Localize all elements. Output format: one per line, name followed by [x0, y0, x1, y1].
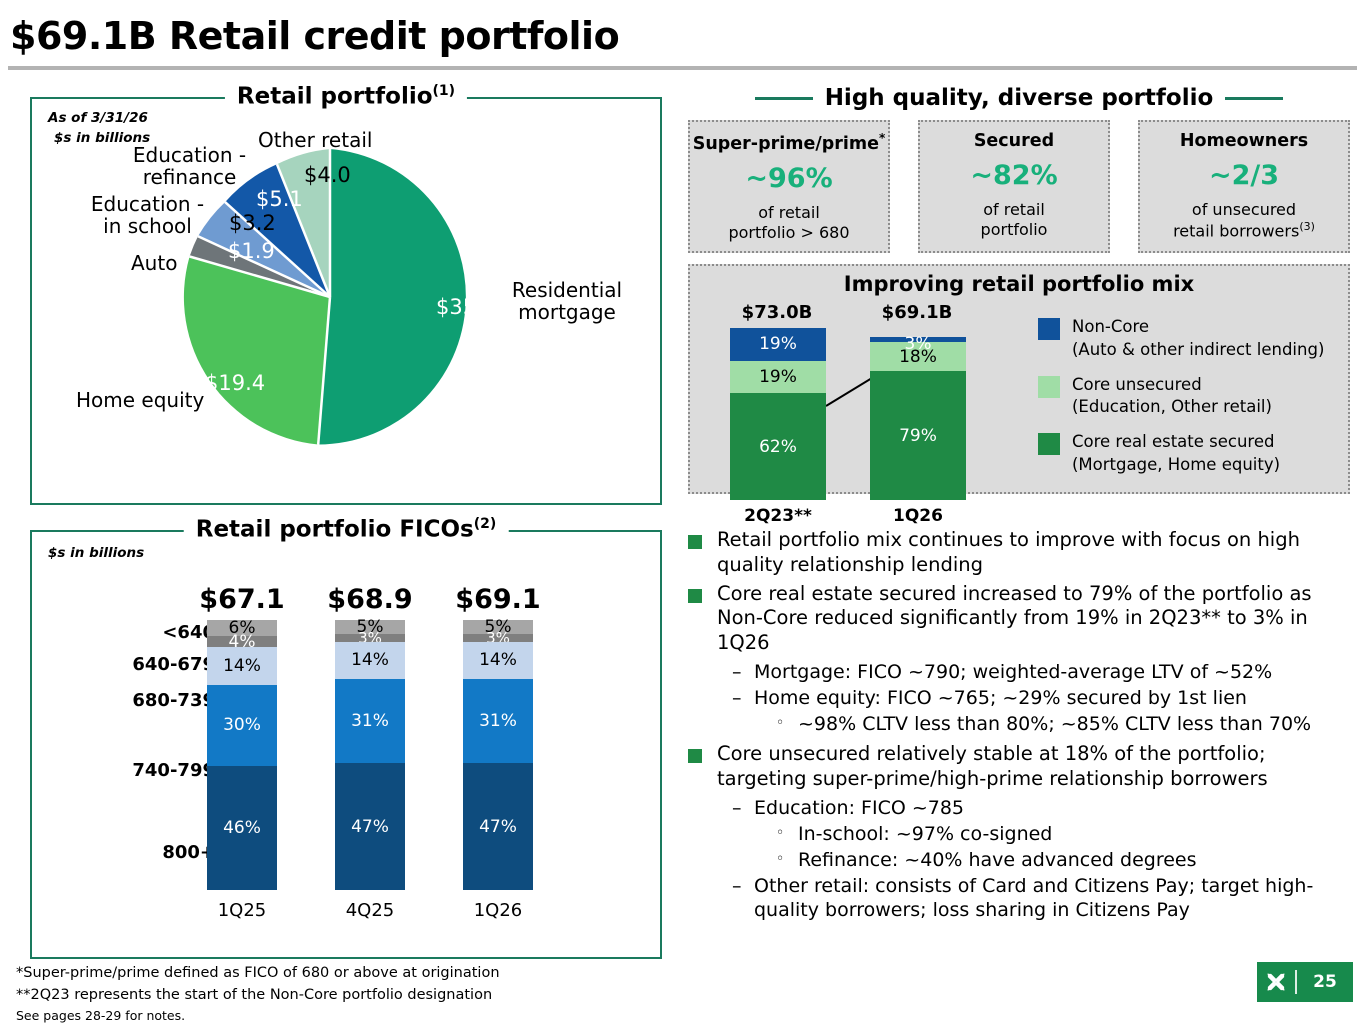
stat-value-super-prime: ~96%: [745, 163, 832, 194]
fico-seg-800plus-1q25: 46%: [207, 766, 277, 890]
retail-portfolio-panel-title: Retail portfolio(1): [225, 83, 467, 110]
mix-seg-core-unsecured-2q23: 19%: [730, 361, 826, 394]
fico-seg-800plus-1q26: 47%: [463, 763, 533, 890]
mix-legend-name-core-unsecured: Core unsecured: [1072, 375, 1202, 394]
mix-xlabel-2q23: 2Q23**: [722, 506, 834, 526]
mix-legend-text-core-unsecured: Core unsecured (Education, Other retail): [1072, 374, 1272, 420]
bullet-text: Other retail: consists of Card and Citiz…: [754, 874, 1350, 922]
citizens-logo-badge: 25: [1257, 962, 1353, 1002]
fico-row-label-680-739: 680-739: [132, 690, 215, 711]
bullet-level3: ◦ Refinance: ~40% have advanced degrees: [776, 848, 1350, 872]
mix-seg-core-re-secured-2q23: 62%: [730, 393, 826, 500]
bullet-square-icon: [688, 589, 702, 603]
stat-sub-line1: of retail: [758, 203, 820, 222]
bullet-text: Home equity: FICO ~765; ~29% secured by …: [754, 686, 1247, 710]
heading-rule-left: [755, 97, 813, 100]
pie-value-residential-mortgage: $35.4: [436, 295, 496, 319]
bullet-level2: – Mortgage: FICO ~790; weighted-average …: [732, 660, 1350, 684]
stat-value-homeowners: ~2/3: [1209, 160, 1279, 191]
pie-label-residential-mortgage: Residentialmortgage: [502, 279, 632, 324]
mix-legend-detail-core-unsecured: (Education, Other retail): [1072, 397, 1272, 416]
ficos-units-note: $s in billions: [48, 544, 144, 564]
stat-sub-homeowners-line2: retail borrowers: [1173, 221, 1299, 240]
stat-label-footnote-marker: *: [879, 131, 885, 145]
mix-legend-swatch-non-core: [1038, 318, 1060, 340]
mix-bar-1q26: 3% 18% 79%: [870, 337, 966, 500]
mix-legend-swatch-core-re-secured: [1038, 433, 1060, 455]
stat-sub-secured-line2: portfolio: [981, 220, 1048, 239]
fico-seg-740-799-4q25: 31%: [335, 679, 405, 763]
mix-bar-2q23: 19% 19% 62%: [730, 328, 826, 500]
pie-label-home-equity: Home equity: [76, 389, 204, 411]
stat-label-text: Super-prime/prime: [693, 134, 879, 154]
bullet-text: Education: FICO ~785: [754, 796, 964, 820]
header-divider: [8, 66, 1357, 70]
fico-seg-640-679-1q25: 4%: [207, 636, 277, 647]
bullet-text: In-school: ~97% co-signed: [798, 822, 1052, 846]
heading-rule-right: [1225, 97, 1283, 100]
high-quality-heading: High quality, diverse portfolio: [688, 85, 1350, 111]
bullet-dash-icon: –: [732, 660, 754, 684]
stat-sub-secured-line1: of retail: [983, 200, 1045, 219]
bullet-circle-icon: ◦: [776, 712, 798, 735]
mix-seg-noncore-1q26-label: 3%: [870, 334, 966, 354]
bullet-level1: Core unsecured relatively stable at 18% …: [688, 742, 1350, 792]
mix-legend-swatch-core-unsecured: [1038, 376, 1060, 398]
fico-seg-740-799-1q25: 30%: [207, 685, 277, 766]
ficos-title-footnote-marker: (2): [474, 516, 497, 532]
ficos-title-text: Retail portfolio FICOs: [196, 517, 474, 543]
mix-xlabel-1q26: 1Q26: [862, 506, 974, 526]
fico-seg-740-799-1q26: 31%: [463, 679, 533, 763]
fico-total-1q26: $69.1: [443, 584, 553, 615]
mix-legend-item-non-core: Non-Core (Auto & other indirect lending): [1038, 316, 1324, 362]
bullet-level1: Retail portfolio mix continues to improv…: [688, 528, 1350, 578]
pie-label-other-retail: Other retail: [258, 129, 372, 151]
pie-label-education-in-school: Education -in school: [80, 193, 215, 238]
mix-legend-detail-non-core: (Auto & other indirect lending): [1072, 340, 1324, 359]
commentary-bullet-list: Retail portfolio mix continues to improv…: [688, 528, 1350, 924]
starburst-svg: [1263, 969, 1289, 995]
footnote-3: See pages 28-29 for notes.: [16, 1008, 185, 1023]
stat-value-secured: ~82%: [970, 160, 1057, 191]
bullet-text: ~98% CLTV less than 80%; ~85% CLTV less …: [798, 712, 1311, 736]
fico-total-1q25: $67.1: [187, 584, 297, 615]
fico-seg-680-739-1q26: 14%: [463, 642, 533, 680]
bullet-square-icon: [688, 535, 702, 549]
stat-sub-super-prime: of retailportfolio > 680: [728, 203, 849, 243]
bullet-square-icon: [688, 749, 702, 763]
mix-legend-text-non-core: Non-Core (Auto & other indirect lending): [1072, 316, 1324, 362]
fico-seg-640-679-4q25: 3%: [335, 634, 405, 642]
stat-label-super-prime: Super-prime/prime*: [693, 131, 886, 154]
fico-xlabel-1q26: 1Q26: [443, 900, 553, 921]
bullet-circle-icon: ◦: [776, 822, 798, 845]
pie-label-auto: Auto: [131, 252, 177, 274]
bullet-text: Core real estate secured increased to 79…: [717, 582, 1350, 656]
fico-bar-1q25: 6% 4% 14% 30% 46%: [207, 620, 277, 890]
bullet-level3: ◦ ~98% CLTV less than 80%; ~85% CLTV les…: [776, 712, 1350, 736]
ficos-panel-title: Retail portfolio FICOs(2): [184, 516, 509, 543]
pie-value-home-equity: $19.4: [205, 371, 265, 395]
fico-seg-680-739-4q25: 14%: [335, 642, 405, 680]
fico-bar-4q25: 5% 3% 14% 31% 47%: [335, 620, 405, 890]
footnote-1: *Super-prime/prime defined as FICO of 68…: [16, 965, 500, 981]
mix-total-2q23: $73.0B: [722, 302, 832, 323]
pie-svg: [180, 147, 480, 447]
stat-box-super-prime: Super-prime/prime* ~96% of retailportfol…: [688, 120, 890, 253]
bullet-dash-icon: –: [732, 874, 754, 898]
retail-portfolio-pie-chart: [180, 147, 480, 447]
bullet-text: Refinance: ~40% have advanced degrees: [798, 848, 1197, 872]
pie-asof-date: As of 3/31/26: [48, 109, 150, 129]
mix-legend-item-core-unsecured: Core unsecured (Education, Other retail): [1038, 374, 1324, 420]
mix-legend-name-non-core: Non-Core: [1072, 317, 1149, 336]
mix-seg-noncore-1q26: 3%: [870, 337, 966, 342]
bullet-text: Mortgage: FICO ~790; weighted-average LT…: [754, 660, 1272, 684]
mix-legend-detail-core-re-secured: (Mortgage, Home equity): [1072, 455, 1280, 474]
stat-label-secured: Secured: [974, 131, 1054, 151]
slide: $69.1B Retail credit portfolio Retail po…: [0, 0, 1365, 1024]
fico-row-label-640-679: 640-679: [132, 654, 215, 675]
retail-portfolio-panel: Retail portfolio(1) As of 3/31/26 $s in …: [30, 97, 662, 505]
retail-portfolio-ficos-panel: Retail portfolio FICOs(2) $s in billions…: [30, 530, 662, 959]
fico-xlabel-1q25: 1Q25: [187, 900, 297, 921]
mix-legend-text-core-re-secured: Core real estate secured (Mortgage, Home…: [1072, 431, 1280, 477]
stat-sub-homeowners: of unsecuredretail borrowers(3): [1173, 200, 1315, 241]
bullet-dash-icon: –: [732, 686, 754, 710]
page-number: 25: [1297, 972, 1353, 992]
stat-sub-homeowners-footnote-marker: (3): [1299, 220, 1315, 233]
panel-title-footnote-marker: (1): [433, 83, 456, 99]
bullet-level1: Core real estate secured increased to 79…: [688, 582, 1350, 656]
stat-label-homeowners: Homeowners: [1180, 131, 1308, 151]
footnote-2: **2Q23 represents the start of the Non-C…: [16, 987, 492, 1003]
mix-seg-noncore-2q23: 19%: [730, 328, 826, 361]
bullet-dash-icon: –: [732, 796, 754, 820]
pie-value-auto: $1.9: [228, 239, 275, 263]
bullet-level2: – Other retail: consists of Card and Cit…: [732, 874, 1350, 922]
fico-seg-800plus-4q25: 47%: [335, 763, 405, 890]
improving-retail-portfolio-mix-chart: Improving retail portfolio mix $73.0B $6…: [688, 264, 1350, 494]
pie-value-education-in-school: $3.2: [229, 211, 276, 235]
pie-label-education-refinance: Education -refinance: [127, 144, 252, 189]
mix-legend-name-core-re-secured: Core real estate secured: [1072, 432, 1274, 451]
stat-box-secured: Secured ~82% of retailportfolio: [918, 120, 1110, 253]
mix-seg-core-re-secured-1q26: 79%: [870, 371, 966, 500]
bullet-level2: – Home equity: FICO ~765; ~29% secured b…: [732, 686, 1350, 710]
citizens-starburst-icon: [1257, 969, 1295, 995]
mix-total-1q26: $69.1B: [862, 302, 972, 323]
fico-bar-1q26: 5% 3% 14% 31% 47%: [463, 620, 533, 890]
stat-sub-line2: portfolio > 680: [728, 223, 849, 242]
pie-value-other-retail: $4.0: [304, 163, 351, 187]
fico-total-4q25: $68.9: [315, 584, 425, 615]
fico-seg-640-679-1q26: 3%: [463, 634, 533, 642]
stat-box-homeowners: Homeowners ~2/3 of unsecuredretail borro…: [1138, 120, 1350, 253]
bullet-circle-icon: ◦: [776, 848, 798, 871]
fico-row-label-740-799: 740-799: [132, 760, 215, 781]
fico-xlabel-4q25: 4Q25: [315, 900, 425, 921]
mix-chart-title: Improving retail portfolio mix: [690, 272, 1348, 296]
bullet-text: Retail portfolio mix continues to improv…: [717, 528, 1350, 578]
stat-sub-homeowners-line1: of unsecured: [1192, 200, 1296, 219]
pie-value-education-refinance: $5.1: [256, 187, 303, 211]
high-quality-heading-text: High quality, diverse portfolio: [825, 85, 1214, 111]
page-title: $69.1B Retail credit portfolio: [10, 14, 619, 58]
bullet-level3: ◦ In-school: ~97% co-signed: [776, 822, 1350, 846]
mix-chart-legend: Non-Core (Auto & other indirect lending)…: [1038, 316, 1324, 489]
stat-sub-secured: of retailportfolio: [981, 200, 1048, 240]
panel-title-text: Retail portfolio: [237, 84, 433, 110]
bullet-level2: – Education: FICO ~785: [732, 796, 1350, 820]
fico-seg-680-739-1q25: 14%: [207, 647, 277, 685]
bullet-text: Core unsecured relatively stable at 18% …: [717, 742, 1350, 792]
logo-divider: [1295, 970, 1297, 994]
mix-legend-item-core-re-secured: Core real estate secured (Mortgage, Home…: [1038, 431, 1324, 477]
